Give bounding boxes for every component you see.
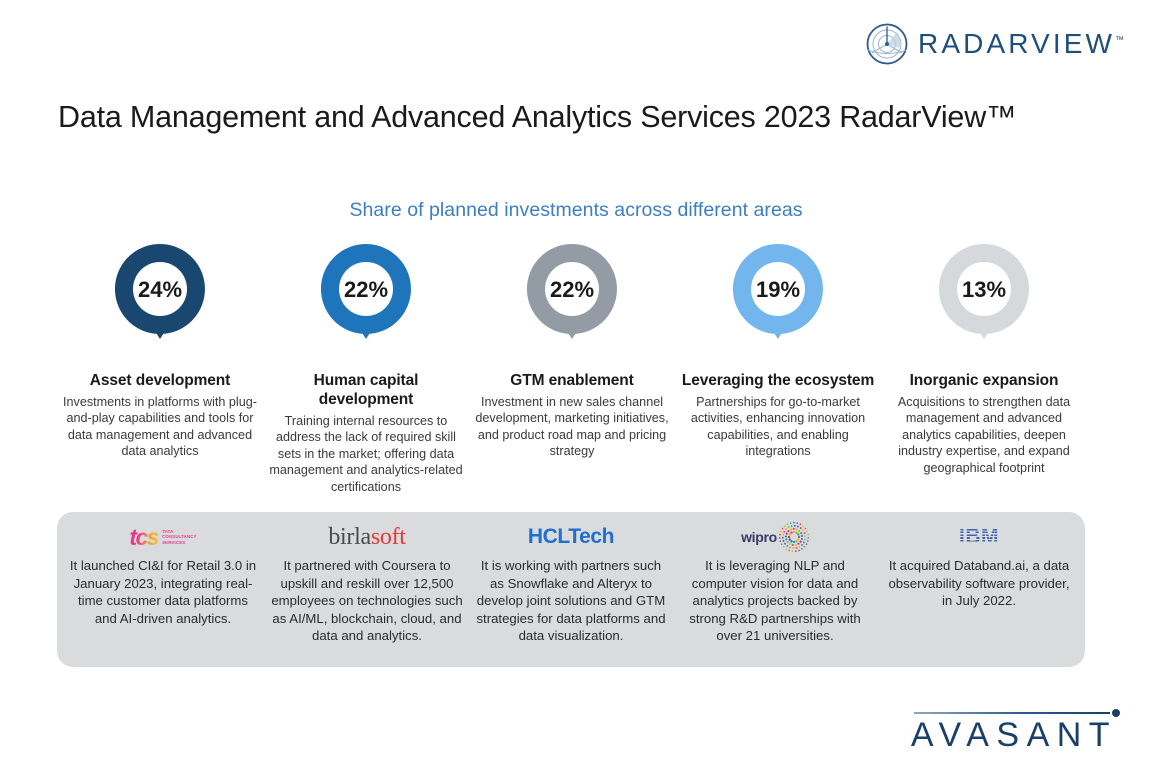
pillar-body: Partnerships for go-to-market activities…	[681, 394, 875, 460]
pillar-heading: Asset development	[90, 371, 230, 390]
hcltech-logo: HCLTech	[528, 522, 614, 552]
radarview-word-text: RADARVIEW	[918, 28, 1115, 59]
radarview-wordmark: RADARVIEW™	[918, 30, 1124, 58]
pin-value: 22%	[344, 277, 388, 302]
pin-marker-icon: 13%	[930, 240, 1038, 358]
tcs-wordmark: tcs	[129, 526, 158, 549]
pin-marker-icon: 22%	[518, 240, 626, 358]
wipro-spiral-icon	[779, 522, 809, 552]
wipro-logo: wipro	[741, 522, 809, 552]
pillar-column-human-capital-development: 22% Human capital development Training i…	[263, 240, 469, 495]
example-text: It is working with partners such as Snow…	[475, 557, 667, 645]
example-text: It is leveraging NLP and computer vision…	[679, 557, 871, 645]
pin-marker-icon: 22%	[312, 240, 420, 358]
radarview-tm: ™	[1115, 35, 1124, 45]
tcs-logo: tcs TATA CONSULTANCY SERVICES	[129, 522, 196, 552]
page-title: Data Management and Advanced Analytics S…	[58, 98, 1058, 136]
pin-marker-icon: 24%	[106, 240, 214, 358]
ibm-wordmark: IBM	[959, 525, 999, 549]
avasant-rule	[908, 708, 1120, 718]
pillar-heading: GTM enablement	[510, 371, 633, 390]
avasant-line	[914, 712, 1110, 714]
hcltech-wordmark: HCLTech	[528, 525, 614, 549]
avasant-wordmark: AVASANT	[908, 718, 1120, 754]
example-column-hcltech: HCLTech It is working with partners such…	[469, 522, 673, 661]
avasant-logo: AVASANT	[908, 708, 1120, 754]
chart-title: Share of planned investments across diff…	[0, 199, 1152, 222]
pillars-row: 24% Asset development Investments in pla…	[57, 240, 1087, 495]
pillar-body: Investment in new sales channel developm…	[475, 394, 669, 460]
tcs-sub-line3: SERVICES	[162, 540, 185, 545]
pin-marker-icon: 19%	[724, 240, 832, 358]
pillar-column-asset-development: 24% Asset development Investments in pla…	[57, 240, 263, 460]
example-column-tcs: tcs TATA CONSULTANCY SERVICES It launche…	[61, 522, 265, 661]
pillar-column-leveraging-the-ecosystem: 19% Leveraging the ecosystem Partnership…	[675, 240, 881, 460]
pillar-heading: Inorganic expansion	[910, 371, 1059, 390]
pillar-body: Training internal resources to address t…	[269, 413, 463, 495]
example-text: It launched CI&I for Retail 3.0 in Janua…	[67, 557, 259, 627]
example-column-ibm: IBM It acquired Databand.ai, a data obse…	[877, 522, 1081, 661]
avasant-dot-icon	[1112, 709, 1120, 717]
wipro-wordmark: wipro	[741, 529, 777, 545]
pillar-column-inorganic-expansion: 13% Inorganic expansion Acquisitions to …	[881, 240, 1087, 476]
birlasoft-logo: birlasoft	[328, 522, 405, 552]
pillar-column-gtm-enablement: 22% GTM enablement Investment in new sal…	[469, 240, 675, 460]
example-text: It acquired Databand.ai, a data observab…	[883, 557, 1075, 610]
pillar-body: Investments in platforms with plug-and-p…	[63, 394, 257, 460]
example-column-birlasoft: birlasoft It partnered with Coursera to …	[265, 522, 469, 661]
radarview-mark-icon	[865, 22, 909, 66]
pillar-heading: Human capital development	[269, 371, 463, 409]
tcs-sublabel: TATA CONSULTANCY SERVICES	[162, 529, 197, 545]
pin-value: 22%	[550, 277, 594, 302]
birlasoft-wordmark-soft: soft	[371, 524, 406, 550]
pin-value: 13%	[962, 277, 1006, 302]
birlasoft-wordmark-birla: birla	[328, 524, 370, 550]
examples-panel: tcs TATA CONSULTANCY SERVICES It launche…	[57, 512, 1085, 667]
ibm-logo: IBM	[959, 522, 999, 552]
pillar-body: Acquisitions to strengthen data manageme…	[887, 394, 1081, 476]
pin-value: 19%	[756, 277, 800, 302]
example-text: It partnered with Coursera to upskill an…	[271, 557, 463, 645]
example-column-wipro: wipro It is leveraging NLP and computer …	[673, 522, 877, 661]
radarview-logo: RADARVIEW™	[865, 22, 1124, 66]
pillar-heading: Leveraging the ecosystem	[682, 371, 874, 390]
pin-value: 24%	[138, 277, 182, 302]
